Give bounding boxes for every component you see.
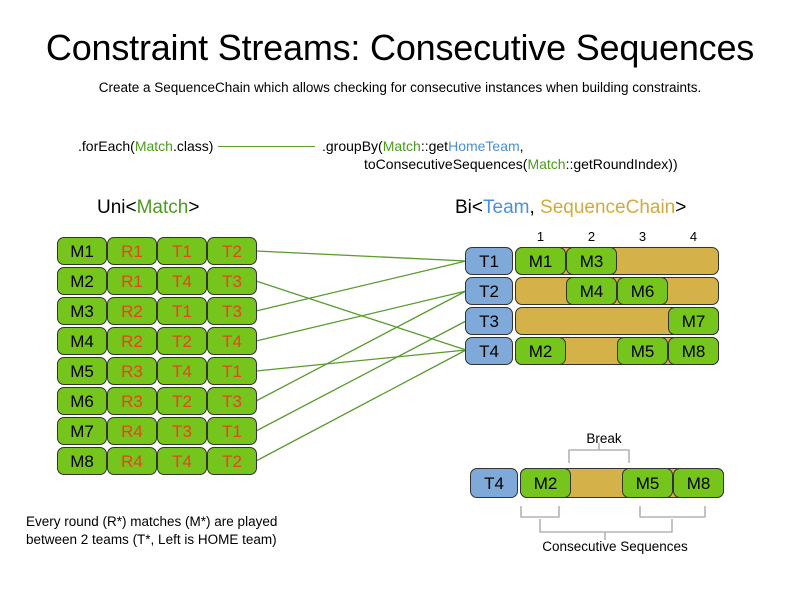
detail-match-chip: M8 [673,468,724,498]
detail-team-chip: T4 [470,468,518,498]
match-cell-round-id: R1 [107,267,157,295]
sequence-team-chip: T4 [465,337,513,365]
match-cell-match-id: M1 [57,237,107,265]
uni-type: Match [137,197,189,218]
sequence-match-chip: M8 [668,337,719,365]
code-groupby-prefix: .groupBy( [322,138,383,154]
code-foreach-type: Match [135,138,173,154]
code-groupby: .groupBy(Match::getHomeTeam,toConsecutiv… [322,137,678,173]
match-cell-round-id: R3 [107,357,157,385]
match-cell-away-team: T2 [207,447,257,475]
code-toconsec-type: Match [527,156,565,172]
detail-match-chip: M5 [622,468,673,498]
sequence-match-chip: M3 [566,247,617,275]
code-groupby-prop: HomeTeam [448,138,520,154]
match-cell-away-team: T1 [207,357,257,385]
code-foreach: .forEach(Match.class) [78,137,213,155]
code-foreach-prefix: .forEach( [78,138,135,154]
match-cell-match-id: M8 [57,447,107,475]
sequence-match-chip: M5 [617,337,668,365]
sequence-match-chip: M1 [515,247,566,275]
bi-comma: , [529,197,540,218]
code-foreach-suffix: .class) [173,138,213,154]
match-cell-away-team: T3 [207,267,257,295]
match-cell-away-team: T4 [207,327,257,355]
bi-suffix: > [675,197,686,218]
page-subtitle: Create a SequenceChain which allows chec… [0,79,800,97]
match-cell-match-id: M3 [57,297,107,325]
code-toconsec-suffix: ::getRoundIndex)) [566,156,678,172]
sequence-team-chip: T2 [465,277,513,305]
slide-canvas: Constraint Streams: Consecutive Sequence… [0,0,800,600]
match-cell-away-team: T2 [207,237,257,265]
sequence-team-chip: T3 [465,307,513,335]
uni-suffix: > [188,197,199,218]
match-cell-round-id: R4 [107,447,157,475]
match-cell-home-team: T2 [157,387,207,415]
code-groupby-type: Match [383,138,421,154]
uni-match-label: Uni<Match> [97,197,199,219]
match-cell-home-team: T4 [157,267,207,295]
code-toconsec-prefix: toConsecutiveSequences( [364,156,527,172]
match-cell-home-team: T1 [157,237,207,265]
code-groupby-comma: , [520,138,524,154]
match-cell-round-id: R3 [107,387,157,415]
sequence-col-header-4: 4 [684,229,704,244]
code-connector-rule [218,146,315,147]
match-cell-away-team: T1 [207,417,257,445]
match-cell-home-team: T4 [157,447,207,475]
match-cell-match-id: M7 [57,417,107,445]
bi-prefix: Bi< [455,197,483,218]
match-cell-match-id: M4 [57,327,107,355]
bi-type-sequencechain: SequenceChain [540,197,675,218]
footnote: Every round (R*) matches (M*) are played… [26,513,277,549]
sequence-col-header-2: 2 [582,229,602,244]
sequence-match-chip: M6 [617,277,668,305]
sequence-match-chip: M4 [566,277,617,305]
match-cell-match-id: M2 [57,267,107,295]
match-cell-away-team: T3 [207,297,257,325]
match-cell-away-team: T3 [207,387,257,415]
break-label: Break [545,430,663,447]
bi-team-sequencechain-label: Bi<Team, SequenceChain> [455,197,686,219]
match-cell-match-id: M6 [57,387,107,415]
sequence-match-chip: M7 [668,307,719,335]
sequence-team-chip: T1 [465,247,513,275]
code-groupby-sep: ::get [421,138,448,154]
match-cell-home-team: T4 [157,357,207,385]
page-title: Constraint Streams: Consecutive Sequence… [0,27,800,69]
sequence-col-header-1: 1 [531,229,551,244]
match-cell-home-team: T2 [157,327,207,355]
match-cell-home-team: T3 [157,417,207,445]
match-cell-match-id: M5 [57,357,107,385]
match-cell-round-id: R2 [107,327,157,355]
sequence-match-chip: M2 [515,337,566,365]
match-cell-round-id: R4 [107,417,157,445]
match-cell-round-id: R1 [107,237,157,265]
detail-match-chip: M2 [520,468,571,498]
uni-prefix: Uni< [97,197,137,218]
match-cell-round-id: R2 [107,297,157,325]
match-cell-home-team: T1 [157,297,207,325]
bi-type-team: Team [483,197,529,218]
consecutive-sequences-label: Consecutive Sequences [470,538,760,555]
sequence-col-header-3: 3 [633,229,653,244]
